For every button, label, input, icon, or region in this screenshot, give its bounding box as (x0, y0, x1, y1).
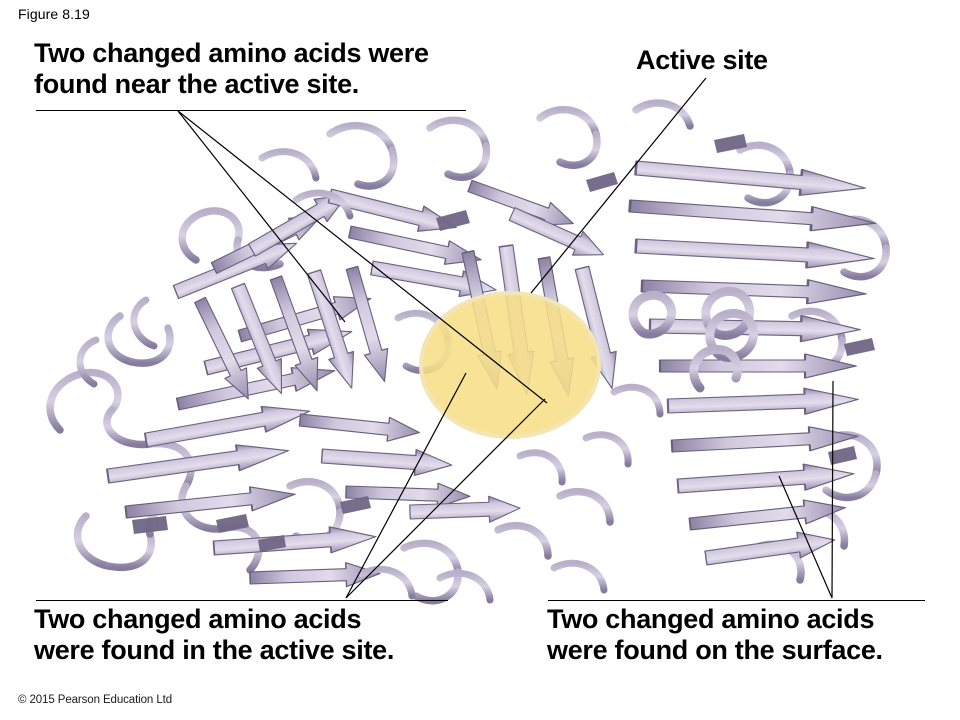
beta-sheet-right (629, 155, 876, 571)
callout-bottom-right-line2: were found on the surface. (547, 635, 883, 666)
leader-bottom-left-a (346, 373, 466, 598)
callout-bottom-right-rule (548, 600, 925, 601)
callout-top-left: Two changed amino acids were found near … (34, 38, 429, 101)
ribbon-helices (633, 291, 754, 388)
leader-bottom-right-b (779, 476, 832, 598)
callout-bottom-left: Two changed amino acids were found in th… (34, 604, 394, 667)
leader-bottom-right-a (832, 381, 833, 598)
copyright-notice: © 2015 Pearson Education Ltd (18, 694, 172, 706)
callout-top-left-line2: found near the active site. (34, 69, 429, 100)
callout-top-left-rule (36, 110, 466, 111)
callout-active-site-line1: Active site (636, 45, 768, 76)
callout-bottom-left-line2: were found in the active site. (34, 635, 394, 666)
callout-bottom-left-line1: Two changed amino acids (34, 604, 394, 635)
figure-slide: Figure 8.19 Two changed amino acids were… (0, 0, 960, 720)
callout-bottom-left-rule (36, 600, 448, 601)
beta-barrel-left (171, 184, 396, 404)
figure-number: Figure 8.19 (18, 6, 90, 22)
callout-top-left-line1: Two changed amino acids were (34, 38, 429, 69)
callout-bottom-right-line1: Two changed amino acids (547, 604, 883, 635)
callout-bottom-right: Two changed amino acids were found on th… (547, 604, 883, 667)
callout-active-site: Active site (636, 45, 768, 76)
active-site-highlight (421, 293, 599, 437)
